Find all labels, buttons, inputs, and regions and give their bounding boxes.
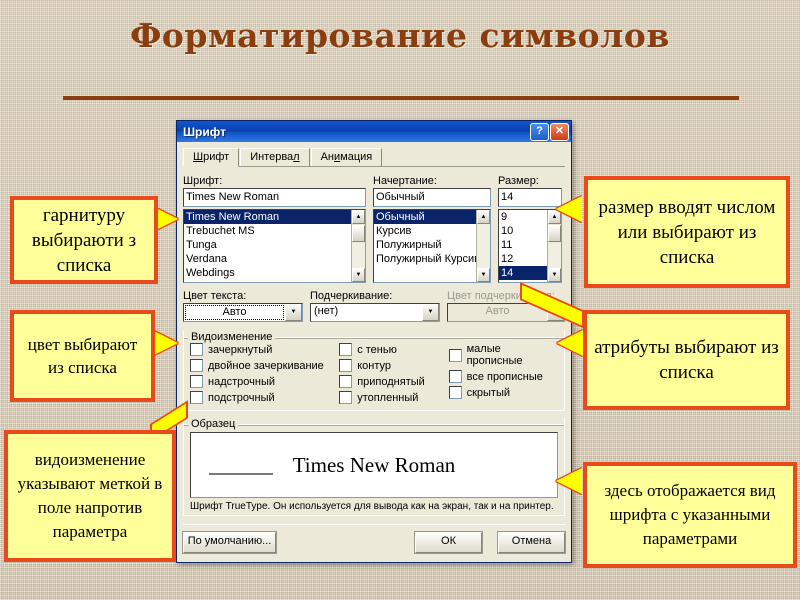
scroll-up-icon[interactable]: ▲: [352, 210, 365, 224]
effects-column-3: малые прописные все прописные скрытый: [449, 343, 558, 404]
list-item[interactable]: 12: [499, 252, 547, 266]
chevron-down-icon[interactable]: ▼: [422, 304, 439, 321]
callout-tail-size: [556, 196, 582, 222]
underline-label: Подчеркивание:: [310, 290, 440, 302]
preview-callout: здесь отображается вид шрифта с указанны…: [583, 462, 797, 568]
checkbox-all-caps[interactable]: все прописные: [449, 370, 558, 383]
checkbox-icon[interactable]: [449, 386, 462, 399]
font-family-scrollbar[interactable]: ▲ ▼: [351, 210, 365, 282]
checkbox-icon[interactable]: [449, 370, 462, 383]
dialog-title: Шрифт: [183, 125, 529, 139]
checkbox-subscript[interactable]: подстрочный: [190, 391, 339, 404]
list-item[interactable]: Trebuchet MS: [184, 224, 351, 238]
underline-field: Подчеркивание: (нет) ▼: [310, 290, 440, 322]
font-style-input[interactable]: Обычный: [373, 188, 491, 207]
scroll-down-icon[interactable]: ▼: [548, 268, 561, 282]
checkbox-icon[interactable]: [190, 391, 203, 404]
checkbox-label: утопленный: [357, 392, 418, 404]
callout-tail-text-color: [152, 330, 178, 356]
callout-tail-preview: [556, 468, 582, 494]
checkbox-label: надстрочный: [208, 376, 275, 388]
list-item[interactable]: Tunga: [184, 238, 351, 252]
scroll-down-icon[interactable]: ▼: [477, 268, 490, 282]
font-size-label: Размер:: [498, 175, 562, 187]
checkbox-strikethrough[interactable]: зачеркнутый: [190, 343, 339, 356]
checkbox-label: скрытый: [467, 387, 510, 399]
scrollbar-thumb[interactable]: [548, 225, 561, 242]
font-size-input[interactable]: 14: [498, 188, 562, 207]
list-item[interactable]: Webdings: [184, 266, 351, 280]
dialog-body: Шрифт Интервал Анимация Шрифт: Times New…: [177, 142, 571, 559]
checkbox-emboss[interactable]: приподнятый: [339, 375, 448, 388]
checkbox-double-strikethrough[interactable]: двойное зачеркивание: [190, 359, 339, 372]
scroll-down-icon[interactable]: ▼: [352, 268, 365, 282]
text-color-combo[interactable]: Авто ▼: [183, 303, 303, 322]
close-icon[interactable]: ✕: [550, 123, 569, 141]
effects-column-1: зачеркнутый двойное зачеркивание надстро…: [190, 343, 339, 404]
tab-strip: Шрифт Интервал Анимация: [183, 147, 565, 167]
checkbox-label: приподнятый: [357, 376, 425, 388]
font-family-label: Шрифт:: [183, 175, 366, 187]
sample-group-title: Образец: [188, 418, 238, 430]
checkbox-small-caps[interactable]: малые прописные: [449, 343, 558, 367]
scrollbar-track[interactable]: [352, 243, 365, 268]
underline-value: (нет): [311, 304, 422, 321]
sample-text: Times New Roman: [191, 453, 557, 478]
list-item[interactable]: 11: [499, 238, 547, 252]
font-family-field: Шрифт: Times New Roman Times New Roman T…: [183, 175, 366, 283]
page-title: Форматирование символов: [0, 16, 800, 55]
checkbox-engrave[interactable]: утопленный: [339, 391, 448, 404]
list-item[interactable]: 10: [499, 224, 547, 238]
chevron-down-icon[interactable]: ▼: [285, 304, 302, 321]
font-style-label: Начертание:: [373, 175, 491, 187]
scrollbar-track[interactable]: [477, 224, 490, 268]
font-family-input[interactable]: Times New Roman: [183, 188, 366, 207]
callout-tail-attributes: [557, 330, 583, 356]
font-size-listbox[interactable]: 9 10 11 12 14 ▲ ▼: [498, 209, 562, 283]
text-color-field: Цвет текста: Авто ▼: [183, 290, 303, 322]
checkbox-icon[interactable]: [190, 359, 203, 372]
font-selection-row: Шрифт: Times New Roman Times New Roman T…: [183, 175, 565, 283]
cancel-button[interactable]: Отмена: [498, 532, 565, 553]
checkbox-label: зачеркнутый: [208, 344, 272, 356]
text-color-label: Цвет текста:: [183, 290, 303, 302]
font-family-callout: гарнитуру выбираюти з списка: [10, 196, 158, 284]
list-item[interactable]: Обычный: [374, 210, 476, 224]
font-family-list: Times New Roman Trebuchet MS Tunga Verda…: [184, 210, 351, 282]
checkbox-icon[interactable]: [339, 391, 352, 404]
checkbox-label: все прописные: [467, 371, 543, 383]
checkbox-icon[interactable]: [449, 349, 462, 362]
help-icon[interactable]: ?: [530, 123, 549, 141]
scroll-up-icon[interactable]: ▲: [477, 210, 490, 224]
sample-note: Шрифт TrueType. Он используется для выво…: [190, 501, 558, 513]
font-style-scrollbar[interactable]: ▲ ▼: [476, 210, 490, 282]
tab-animation[interactable]: Анимация: [311, 148, 383, 166]
ok-button[interactable]: ОК: [415, 532, 482, 553]
effects-columns: зачеркнутый двойное зачеркивание надстро…: [190, 343, 558, 404]
list-item[interactable]: Курсив: [374, 224, 476, 238]
attributes-callout: атрибуты выбирают из списка: [583, 310, 790, 410]
checkbox-icon[interactable]: [339, 343, 352, 356]
checkbox-icon[interactable]: [339, 359, 352, 372]
default-button[interactable]: По умолчанию...: [183, 532, 276, 553]
color-underline-row: Цвет текста: Авто ▼ Подчеркивание: (нет)…: [183, 290, 565, 322]
effects-column-2: с тенью контур приподнятый утопленный: [339, 343, 448, 404]
checkbox-shadow[interactable]: с тенью: [339, 343, 448, 356]
checkbox-icon[interactable]: [190, 375, 203, 388]
sample-group: Образец Times New Roman Шрифт TrueType. …: [183, 418, 565, 516]
list-item[interactable]: Полужирный Курсив: [374, 252, 476, 266]
text-color-callout: цвет выбирают из списка: [10, 310, 155, 402]
checkbox-label: подстрочный: [208, 392, 275, 404]
list-item[interactable]: 14: [499, 266, 547, 280]
underline-combo[interactable]: (нет) ▼: [310, 303, 440, 322]
tab-font[interactable]: Шрифт: [183, 148, 239, 167]
effects-group-title: Видоизменение: [188, 331, 275, 343]
size-callout: размер вводят числом или выбирают из спи…: [584, 176, 790, 288]
font-family-listbox[interactable]: Times New Roman Trebuchet MS Tunga Verda…: [183, 209, 366, 283]
font-size-field: Размер: 14 9 10 11 12 14 ▲ ▼: [498, 175, 562, 283]
title-divider: [63, 96, 739, 100]
checkbox-icon[interactable]: [339, 375, 352, 388]
text-color-value: Авто: [185, 305, 284, 320]
dialog-title-bar[interactable]: Шрифт ? ✕: [177, 121, 571, 142]
list-item[interactable]: Times New Roman: [184, 210, 351, 224]
font-size-list: 9 10 11 12 14: [499, 210, 547, 282]
sample-preview: Times New Roman: [190, 432, 558, 498]
list-item[interactable]: Полужирный: [374, 238, 476, 252]
list-item[interactable]: 9: [499, 210, 547, 224]
font-dialog: Шрифт ? ✕ Шрифт Интервал Анимация Шрифт:…: [176, 120, 572, 563]
checkbox-label: двойное зачеркивание: [208, 360, 324, 372]
font-style-listbox[interactable]: Обычный Курсив Полужирный Полужирный Кур…: [373, 209, 491, 283]
checkbox-label: контур: [357, 360, 391, 372]
checkbox-outline[interactable]: контур: [339, 359, 448, 372]
font-style-field: Начертание: Обычный Обычный Курсив Полуж…: [373, 175, 491, 283]
checkbox-label: с тенью: [357, 344, 397, 356]
underline-color-value: Авто: [448, 304, 547, 321]
scrollbar-track[interactable]: [548, 243, 561, 268]
checkbox-superscript[interactable]: надстрочный: [190, 375, 339, 388]
tab-interval[interactable]: Интервал: [240, 148, 309, 166]
font-style-list: Обычный Курсив Полужирный Полужирный Кур…: [374, 210, 476, 282]
scrollbar-thumb[interactable]: [352, 225, 365, 242]
effects-callout: видоизменение указывают меткой в поле на…: [4, 430, 176, 562]
checkbox-icon[interactable]: [190, 343, 203, 356]
list-item[interactable]: Verdana: [184, 252, 351, 266]
checkbox-label: малые прописные: [467, 343, 558, 367]
checkbox-hidden[interactable]: скрытый: [449, 386, 558, 399]
effects-group: Видоизменение зачеркнутый двойное зачерк…: [183, 331, 565, 411]
dialog-button-row: По умолчанию... ОК Отмена: [183, 524, 565, 553]
